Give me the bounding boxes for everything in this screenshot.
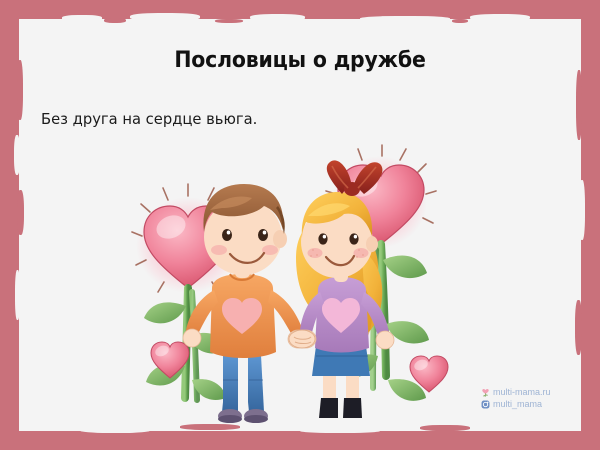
brush-fleck: [14, 135, 20, 175]
brush-fleck: [575, 300, 582, 355]
instagram-icon: [481, 400, 490, 409]
poster-root: Пословицы о дружбе Без друга на сердце в…: [0, 0, 600, 450]
illustration: [130, 140, 475, 430]
brush-fleck: [104, 18, 126, 23]
brush-fleck: [130, 13, 200, 21]
watermark: multi-mama.ru multi_mama: [481, 386, 551, 410]
brush-fleck: [579, 180, 585, 240]
brush-fleck: [215, 19, 243, 23]
clasped-hands: [289, 330, 315, 348]
page-title: Пословицы о дружбе: [21, 48, 579, 73]
brush-fleck: [452, 19, 468, 23]
brush-fleck: [360, 16, 450, 22]
watermark-site-label: multi-mama.ru: [493, 386, 551, 398]
watermark-handle-label: multi_mama: [493, 398, 542, 410]
brush-fleck: [62, 15, 102, 21]
watermark-site-row: multi-mama.ru: [481, 386, 551, 398]
flower-icon: [481, 388, 490, 397]
brush-fleck: [17, 190, 24, 235]
watermark-social-row: multi_mama: [481, 398, 551, 410]
proverb-text: Без друга на сердце вьюга.: [41, 110, 497, 128]
brush-fleck: [250, 14, 305, 21]
brush-fleck: [15, 270, 20, 320]
brush-fleck: [576, 70, 582, 140]
brush-fleck: [470, 14, 530, 21]
